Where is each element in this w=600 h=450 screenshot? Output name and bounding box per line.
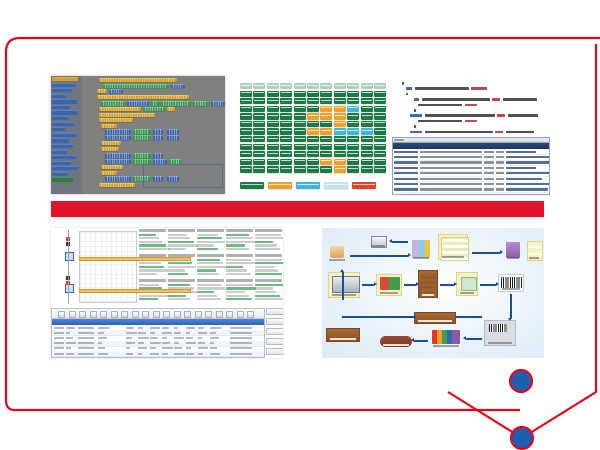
table-toolbar[interactable] xyxy=(52,309,264,319)
table-cell xyxy=(54,347,64,349)
workspace-block[interactable] xyxy=(127,101,149,106)
delivery-truck-node[interactable] xyxy=(328,272,360,298)
notes-line xyxy=(226,259,251,261)
grid-cell[interactable] xyxy=(240,151,252,157)
toolbar-icon[interactable] xyxy=(174,311,181,319)
toolbar-icon[interactable] xyxy=(100,311,107,319)
grid-cell[interactable] xyxy=(307,91,319,97)
workspace-block[interactable] xyxy=(167,135,179,140)
workspace-block[interactable] xyxy=(153,153,163,158)
grid-cell[interactable] xyxy=(240,121,252,127)
notes-line xyxy=(139,237,159,239)
toolbar-icon[interactable] xyxy=(226,311,233,319)
workspace-block[interactable] xyxy=(161,101,191,106)
logistics-flowchart-panel[interactable] xyxy=(322,228,544,358)
palette-block[interactable] xyxy=(52,150,67,154)
scan-handheld-node[interactable] xyxy=(484,320,516,346)
notes-line xyxy=(255,262,283,264)
grid-cell[interactable] xyxy=(294,113,306,119)
grid-cell[interactable] xyxy=(280,151,292,157)
toolbar-icon[interactable] xyxy=(153,311,160,319)
table-cell xyxy=(210,327,221,329)
grid-cell[interactable] xyxy=(347,159,359,165)
workspace-block[interactable] xyxy=(101,101,125,106)
toolbar-icon[interactable] xyxy=(90,311,97,319)
grid-cell[interactable] xyxy=(307,144,319,150)
palette-block[interactable] xyxy=(52,88,72,92)
inspection-desk-label xyxy=(413,257,429,259)
carton-stack-node[interactable] xyxy=(418,270,438,298)
grid-cell[interactable] xyxy=(361,113,373,119)
grid-cell[interactable] xyxy=(240,113,252,119)
grid-cell[interactable] xyxy=(280,98,292,104)
palette-block[interactable] xyxy=(52,138,69,142)
palette-block[interactable] xyxy=(52,172,68,176)
grid-cell[interactable] xyxy=(347,151,359,157)
grid-cell[interactable] xyxy=(294,98,306,104)
grid-cell[interactable] xyxy=(240,144,252,150)
grid-cell[interactable] xyxy=(307,136,319,142)
workspace-block[interactable] xyxy=(101,147,119,151)
workspace-block[interactable] xyxy=(151,101,159,106)
grid-cell[interactable] xyxy=(361,98,373,104)
grid-cell[interactable] xyxy=(361,121,373,127)
grid-cell[interactable] xyxy=(307,106,319,112)
grid-cell-header xyxy=(307,83,319,89)
side-action-button[interactable] xyxy=(266,348,283,355)
code-token xyxy=(414,98,419,101)
code-token xyxy=(506,131,534,134)
notes-line xyxy=(255,237,283,239)
gantt-rail[interactable] xyxy=(65,230,77,304)
grid-cell[interactable] xyxy=(294,166,306,172)
side-action-button[interactable] xyxy=(266,328,283,335)
table-cell xyxy=(230,327,252,329)
scrollbar-thumb[interactable] xyxy=(394,139,404,141)
grid-cell[interactable] xyxy=(280,106,292,112)
palette-block[interactable] xyxy=(52,161,71,165)
grid-cell[interactable] xyxy=(320,91,332,97)
grid-cell[interactable] xyxy=(334,136,346,142)
node-artwork-person xyxy=(330,246,344,258)
workspace-block[interactable] xyxy=(97,95,189,99)
grid-cell[interactable] xyxy=(374,128,386,134)
table-cell xyxy=(210,353,220,355)
palette-block[interactable] xyxy=(52,155,76,159)
workspace-block[interactable] xyxy=(167,107,175,111)
toolbar-icon[interactable] xyxy=(237,311,244,319)
notes-line xyxy=(168,269,185,271)
grid-cell[interactable] xyxy=(253,106,265,112)
workspace-block[interactable] xyxy=(99,118,133,122)
grid-cell[interactable] xyxy=(374,136,386,142)
grid-cell[interactable] xyxy=(361,136,373,142)
grid-cell[interactable] xyxy=(280,166,292,172)
grid-cell[interactable] xyxy=(334,159,346,165)
grid-cell[interactable] xyxy=(280,159,292,165)
workspace-block[interactable] xyxy=(103,84,169,88)
toolbar-icon[interactable] xyxy=(247,311,254,319)
grid-cell[interactable] xyxy=(267,121,279,127)
workspace-block[interactable] xyxy=(105,129,131,134)
grid-cell[interactable] xyxy=(347,98,359,104)
workspace-block[interactable] xyxy=(105,153,131,158)
unloading-forklift-node[interactable] xyxy=(376,274,402,296)
workspace-block[interactable] xyxy=(99,113,155,117)
toolbar-icon[interactable] xyxy=(79,311,86,319)
grid-cell[interactable] xyxy=(253,98,265,104)
scheduler-panel[interactable] xyxy=(51,228,283,358)
inspection-desk-node[interactable] xyxy=(410,238,432,260)
workspace-block[interactable] xyxy=(193,101,209,106)
grid-cell[interactable] xyxy=(361,144,373,150)
grid-cell[interactable] xyxy=(253,144,265,150)
grid-cell[interactable] xyxy=(267,113,279,119)
grid-cell[interactable] xyxy=(374,91,386,97)
table-side-buttons[interactable] xyxy=(266,308,283,358)
grid-cell[interactable] xyxy=(347,128,359,134)
block-label-glyphs xyxy=(101,107,139,111)
grid-cell[interactable] xyxy=(267,91,279,97)
side-action-button[interactable] xyxy=(266,318,283,325)
grid-cell[interactable] xyxy=(240,91,252,97)
notes-line xyxy=(226,262,255,264)
workspace-block[interactable] xyxy=(101,165,123,169)
quality-check-node[interactable] xyxy=(456,272,478,296)
grid-cell[interactable] xyxy=(307,166,319,172)
table-cell xyxy=(78,332,94,334)
toolbar-icon[interactable] xyxy=(132,311,139,319)
scheduler-data-table[interactable] xyxy=(51,308,265,358)
code-editor-panel[interactable] xyxy=(392,78,550,138)
toolbar-icon[interactable] xyxy=(184,311,191,319)
grid-cell[interactable] xyxy=(320,151,332,157)
truck-to-forklift-arrow xyxy=(362,284,374,286)
grid-cell[interactable] xyxy=(294,91,306,97)
notes-group-title xyxy=(197,254,224,257)
grid-cell[interactable] xyxy=(253,136,265,142)
code-token xyxy=(422,98,490,101)
block-label-glyphs xyxy=(171,159,179,164)
grid-cell[interactable] xyxy=(280,91,292,97)
delivery-truck-label xyxy=(332,294,356,296)
gantt-task-bar[interactable] xyxy=(79,257,191,261)
notes-line xyxy=(197,248,218,250)
grid-cell[interactable] xyxy=(334,121,346,127)
toolbar-icon[interactable] xyxy=(121,311,128,319)
table-cell xyxy=(230,353,252,355)
log-path xyxy=(420,172,482,174)
status-grid-panel[interactable] xyxy=(240,83,386,178)
nonconforming-zone-feed-line xyxy=(456,316,482,318)
grid-cell[interactable] xyxy=(347,91,359,97)
grid-cell[interactable] xyxy=(280,113,292,119)
grid-cell[interactable] xyxy=(334,91,346,97)
grid-cell[interactable] xyxy=(253,128,265,134)
grid-cell[interactable] xyxy=(294,121,306,127)
log-row[interactable] xyxy=(393,192,549,195)
grid-cell[interactable] xyxy=(374,144,386,150)
grid-cell[interactable] xyxy=(374,98,386,104)
grid-cell[interactable] xyxy=(347,144,359,150)
workspace-block[interactable] xyxy=(101,171,117,175)
notes-group-title xyxy=(255,229,282,232)
grid-cell[interactable] xyxy=(374,159,386,165)
code-token xyxy=(471,87,487,90)
log-header-row xyxy=(393,143,549,149)
block-label-glyphs xyxy=(173,84,183,88)
notes-line xyxy=(226,273,251,275)
workspace-block[interactable] xyxy=(153,135,163,140)
table-cell xyxy=(150,353,159,355)
grid-cell[interactable] xyxy=(267,151,279,157)
grid-cell[interactable] xyxy=(334,106,346,112)
workspace-block[interactable] xyxy=(99,107,141,111)
grid-cell[interactable] xyxy=(334,128,346,134)
shelving-node[interactable] xyxy=(430,328,462,348)
blocks-workspace[interactable] xyxy=(83,76,225,194)
workspace-block[interactable] xyxy=(101,124,117,128)
grid-cell[interactable] xyxy=(294,144,306,150)
notes-line xyxy=(226,234,249,236)
grid-cell[interactable] xyxy=(294,136,306,142)
log-code xyxy=(496,194,504,195)
erp-system-node[interactable] xyxy=(504,240,522,260)
grid-cell[interactable] xyxy=(374,121,386,127)
workspace-block[interactable] xyxy=(109,89,123,93)
grid-cell[interactable] xyxy=(320,113,332,119)
palette-block[interactable] xyxy=(52,122,74,126)
grid-cell[interactable] xyxy=(307,128,319,134)
grid-cell[interactable] xyxy=(253,113,265,119)
decorative-frame xyxy=(0,0,600,450)
workspace-block[interactable] xyxy=(97,89,107,93)
grid-cell[interactable] xyxy=(334,151,346,157)
grid-cell[interactable] xyxy=(320,106,332,112)
grid-cell[interactable] xyxy=(240,136,252,142)
grid-cell[interactable] xyxy=(361,106,373,112)
grid-cell[interactable] xyxy=(253,91,265,97)
nonconforming-zone-node[interactable] xyxy=(414,312,456,324)
workspace-block[interactable] xyxy=(167,129,179,134)
grid-cell-header xyxy=(347,83,359,89)
workspace-block[interactable] xyxy=(99,78,177,82)
grid-cell[interactable] xyxy=(334,144,346,150)
inspection-to-erp-arrow xyxy=(472,252,500,254)
grid-cell[interactable] xyxy=(240,128,252,134)
workspace-block[interactable] xyxy=(133,153,151,158)
workspace-block[interactable] xyxy=(133,135,151,140)
grid-cell[interactable] xyxy=(347,136,359,142)
grid-cell[interactable] xyxy=(320,98,332,104)
shelving-to-complete-arrow-head xyxy=(411,338,414,342)
toolbar-icon[interactable] xyxy=(58,311,65,319)
toolbar-icon[interactable] xyxy=(142,311,149,319)
grid-cell[interactable] xyxy=(307,151,319,157)
grid-cell[interactable] xyxy=(280,144,292,150)
workspace-block[interactable] xyxy=(171,84,185,88)
palette-block[interactable] xyxy=(52,127,65,131)
block-label-glyphs xyxy=(169,135,177,140)
toolbar-icon[interactable] xyxy=(111,311,118,319)
palette-block[interactable] xyxy=(52,177,73,181)
grid-cell[interactable] xyxy=(267,106,279,112)
document-list-node[interactable] xyxy=(438,234,468,260)
palette-block[interactable] xyxy=(52,116,68,120)
table-cell xyxy=(98,353,108,355)
grid-cell[interactable] xyxy=(240,106,252,112)
workspace-block[interactable] xyxy=(143,107,165,111)
palette-block[interactable] xyxy=(52,94,66,98)
workspace-block[interactable] xyxy=(99,183,135,187)
grid-cell[interactable] xyxy=(294,106,306,112)
table-cell xyxy=(138,342,144,344)
grid-cell[interactable] xyxy=(347,166,359,172)
grid-cell[interactable] xyxy=(361,166,373,172)
grid-cell[interactable] xyxy=(347,106,359,112)
grid-cell[interactable] xyxy=(334,166,346,172)
barcode-label-node[interactable] xyxy=(498,274,524,292)
workspace-block[interactable] xyxy=(105,159,131,164)
palette-block[interactable] xyxy=(52,83,76,87)
grid-cell[interactable] xyxy=(240,98,252,104)
inbound-complete-node[interactable] xyxy=(380,336,412,347)
erp-outputs-node[interactable] xyxy=(526,240,542,260)
toolbar-icon[interactable] xyxy=(195,311,202,319)
grid-cell[interactable] xyxy=(307,159,319,165)
grid-cell[interactable] xyxy=(320,144,332,150)
grid-cell[interactable] xyxy=(347,121,359,127)
gantt-node[interactable] xyxy=(65,252,74,261)
supplier-clerk-node[interactable] xyxy=(326,244,348,262)
grid-cell[interactable] xyxy=(294,159,306,165)
side-action-button[interactable] xyxy=(266,338,283,345)
shelving-to-complete-arrow xyxy=(414,340,428,342)
scheduler-notes-columns xyxy=(139,229,283,305)
table-cell xyxy=(186,342,196,344)
grid-cell[interactable] xyxy=(320,136,332,142)
workspace-block[interactable] xyxy=(105,176,131,181)
grid-cell[interactable] xyxy=(267,166,279,172)
toolbar-icon[interactable] xyxy=(205,311,212,319)
grid-cell[interactable] xyxy=(347,113,359,119)
workspace-block[interactable] xyxy=(153,159,167,164)
grid-cell[interactable] xyxy=(361,159,373,165)
notes-line xyxy=(197,269,216,271)
status-cell-matrix[interactable] xyxy=(240,83,386,173)
grid-cell[interactable] xyxy=(307,98,319,104)
blocks-editor-panel[interactable] xyxy=(51,76,225,194)
log-path xyxy=(420,194,482,195)
grid-cell[interactable] xyxy=(280,121,292,127)
grid-cell[interactable] xyxy=(294,151,306,157)
grid-cell[interactable] xyxy=(361,91,373,97)
log-path xyxy=(420,151,482,153)
grid-cell[interactable] xyxy=(253,151,265,157)
palette-block[interactable] xyxy=(52,99,77,103)
gantt-node[interactable] xyxy=(65,284,74,293)
grid-cell[interactable] xyxy=(374,113,386,119)
grid-cell[interactable] xyxy=(280,136,292,142)
grid-cell[interactable] xyxy=(240,159,252,165)
table-cell xyxy=(98,347,105,349)
grid-cell[interactable] xyxy=(334,113,346,119)
palette-block[interactable] xyxy=(52,144,73,148)
toolbar-icon[interactable] xyxy=(163,311,170,319)
grid-cell[interactable] xyxy=(374,106,386,112)
grid-cell[interactable] xyxy=(267,136,279,142)
grid-cell[interactable] xyxy=(253,166,265,172)
blocks-palette[interactable] xyxy=(51,76,81,194)
output-log-panel[interactable] xyxy=(392,137,550,195)
log-line xyxy=(484,161,494,163)
grid-cell[interactable] xyxy=(253,159,265,165)
grid-cell[interactable] xyxy=(320,128,332,134)
table-cell xyxy=(126,327,134,329)
toolbar-icon[interactable] xyxy=(69,311,76,319)
notes-line xyxy=(197,262,223,264)
grid-cell[interactable] xyxy=(374,151,386,157)
side-action-button[interactable] xyxy=(266,308,283,315)
palette-block[interactable] xyxy=(52,105,70,109)
grid-cell[interactable] xyxy=(267,159,279,165)
block-label-glyphs xyxy=(135,153,149,158)
grid-cell[interactable] xyxy=(361,128,373,134)
gantt-task-bar[interactable] xyxy=(79,289,191,293)
grid-cell[interactable] xyxy=(361,151,373,157)
grid-cell[interactable] xyxy=(320,166,332,172)
grid-cell[interactable] xyxy=(267,128,279,134)
palette-block[interactable] xyxy=(52,133,77,137)
grid-cell[interactable] xyxy=(280,128,292,134)
workspace-block[interactable] xyxy=(133,129,151,134)
grid-cell[interactable] xyxy=(253,121,265,127)
grid-cell[interactable] xyxy=(320,159,332,165)
workspace-block[interactable] xyxy=(169,159,181,164)
grid-cell[interactable] xyxy=(267,144,279,150)
workspace-block[interactable] xyxy=(133,159,151,164)
grid-cell[interactable] xyxy=(374,166,386,172)
toolbar-icon[interactable] xyxy=(216,311,223,319)
grid-cell[interactable] xyxy=(307,121,319,127)
table-row[interactable] xyxy=(52,356,264,358)
table-cell xyxy=(198,353,203,355)
palette-block[interactable] xyxy=(52,110,78,114)
workspace-block[interactable] xyxy=(153,129,163,134)
grid-cell[interactable] xyxy=(307,113,319,119)
node-artwork-check xyxy=(461,277,477,291)
workspace-block[interactable] xyxy=(101,141,121,145)
unloading-forklift-label xyxy=(380,292,398,294)
gantt-chart[interactable] xyxy=(51,228,283,306)
workspace-block[interactable] xyxy=(211,101,225,106)
grid-cell[interactable] xyxy=(320,121,332,127)
nonconforming-store-node[interactable] xyxy=(326,328,360,342)
table-header-row xyxy=(52,319,264,325)
inbound-complete-label xyxy=(383,344,409,346)
grid-cell[interactable] xyxy=(294,128,306,134)
code-token xyxy=(406,87,412,90)
code-token xyxy=(406,93,408,96)
grid-cell[interactable] xyxy=(334,98,346,104)
palette-block[interactable] xyxy=(52,77,78,81)
palette-block[interactable] xyxy=(52,166,79,170)
weighing-station-node[interactable] xyxy=(368,234,388,248)
notes-group xyxy=(255,229,283,250)
workspace-block[interactable] xyxy=(105,135,131,140)
grid-cell[interactable] xyxy=(240,166,252,172)
grid-cell[interactable] xyxy=(267,98,279,104)
